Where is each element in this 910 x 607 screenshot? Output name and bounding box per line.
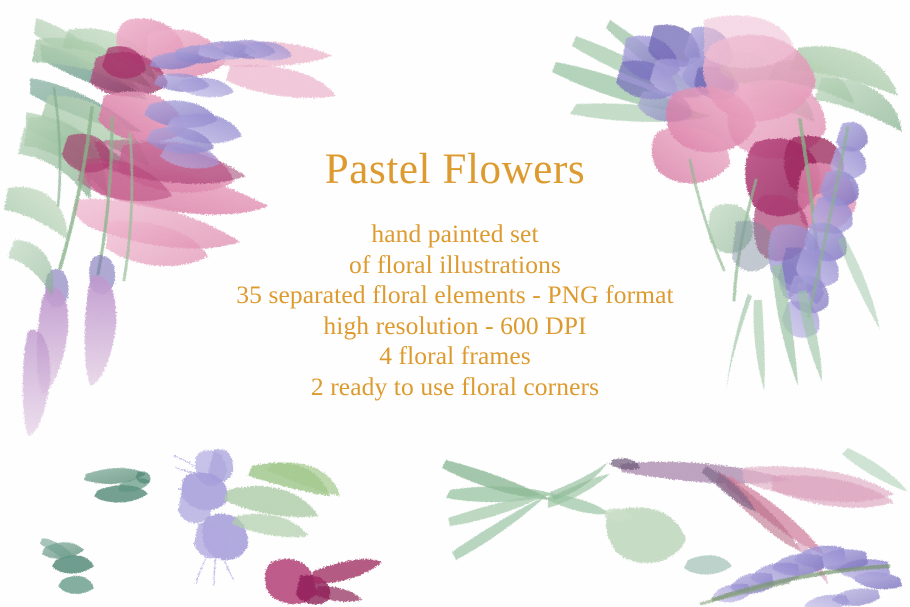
top-left-floral-corner — [4, 18, 336, 436]
green-grass-sprig — [442, 460, 610, 560]
magenta-bud-sprig — [265, 559, 382, 605]
watercolor-artwork — [0, 0, 910, 607]
bottom-scattered-elements — [40, 448, 908, 607]
promo-canvas: Pastel Flowers hand painted set of flora… — [0, 0, 910, 607]
olive-leaf-sprig-left — [84, 468, 150, 503]
purple-lavender-spike — [700, 546, 902, 607]
olive-leaf-sprig-left-lower — [40, 538, 94, 594]
periwinkle-flower-sprig — [174, 449, 340, 586]
single-mint-leaf — [604, 507, 686, 563]
top-right-floral-corner — [552, 15, 902, 392]
